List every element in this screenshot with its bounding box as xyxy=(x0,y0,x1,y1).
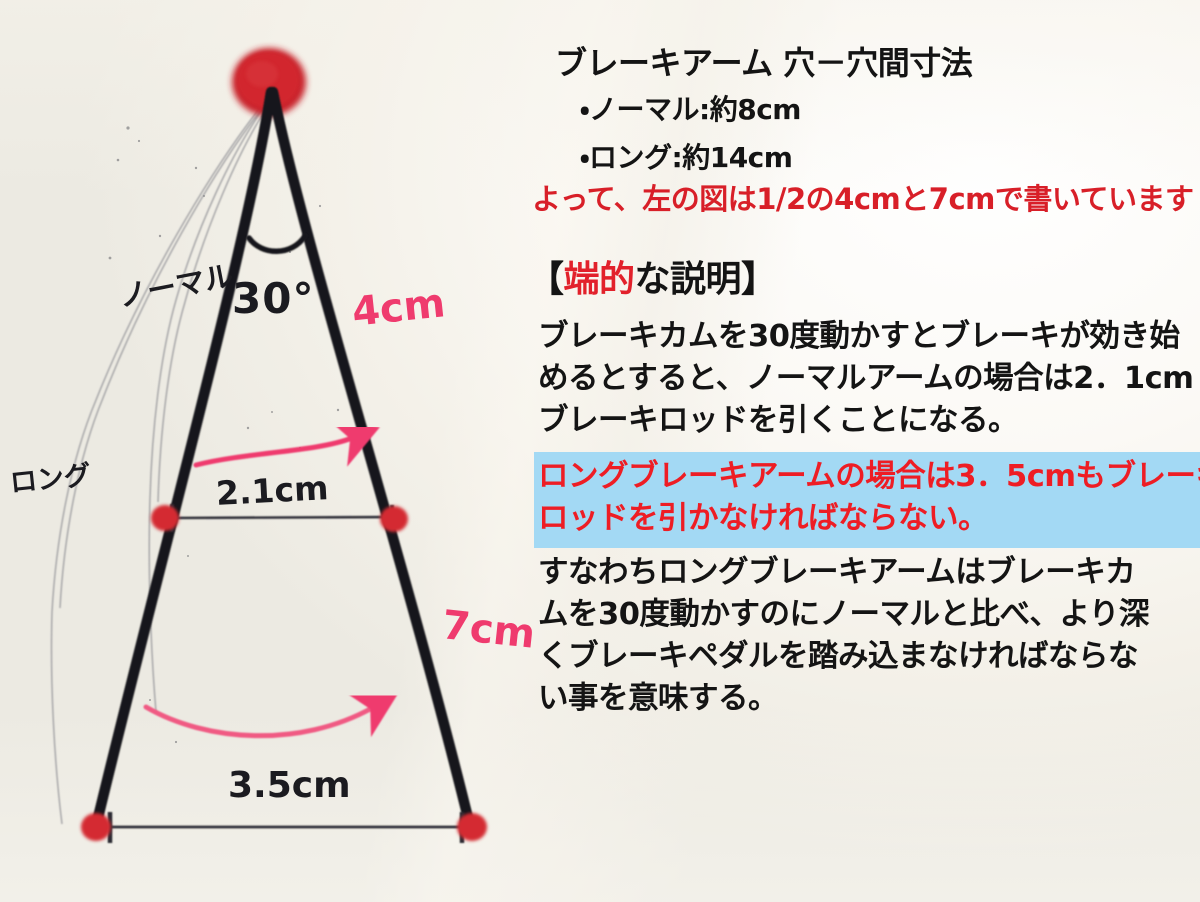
paragraph-normal-arm: ブレーキカムを30度動かすとブレーキが効き始 めるとすると、ノーマルアームの場合… xyxy=(538,316,1200,442)
paragraph-line: ブレーキロッドを引くことになる。 xyxy=(538,400,1200,442)
heading-close-bracket: 】 xyxy=(741,259,777,300)
paragraph-line: ムを30度動かすのにノーマルと比べ、より深 xyxy=(538,594,1200,636)
angle-arc-icon xyxy=(249,236,305,251)
section-heading: 【端的な説明】 xyxy=(528,250,777,302)
label-angle-30: 30° xyxy=(232,278,314,320)
lower-travel-arrow-icon xyxy=(146,707,372,736)
explanation-pane: ブレーキアーム 穴－穴間寸法 ・ノーマル:約8cm ・ロング:約14cm よって… xyxy=(520,0,1200,902)
label-long-arm: ロング xyxy=(9,462,92,497)
left-arm xyxy=(96,92,271,826)
paragraph-line: い事を意味する。 xyxy=(538,678,1200,720)
label-upper-chord-2-1cm: 2.1cm xyxy=(215,471,329,510)
paragraph-line: めるとすると、ノーマルアームの場合は2．1cm xyxy=(538,358,1200,400)
page-root: ノーマル ロング 30° 4cm 7cm 2.1cm 3.5cm ブレーキアーム… xyxy=(0,0,1200,902)
label-upper-length-4cm: 4cm xyxy=(350,283,447,333)
highlight-line: ロッドを引かなければならない。 xyxy=(534,498,1200,540)
lower-chord-line xyxy=(108,812,464,843)
spec-bullet-normal: ・ノーマル:約8cm xyxy=(580,88,801,128)
paragraph-conclusion: すなわちロングブレーキアームはブレーキカ ムを30度動かすのにノーマルと比べ、よ… xyxy=(538,552,1200,720)
highlighted-callout: ロングブレーキアームの場合は3．5cmもブレーキ ロッドを引かなければならない。 xyxy=(534,452,1200,548)
paragraph-line: すなわちロングブレーキアームはブレーキカ xyxy=(538,552,1200,594)
highlight-line: ロングブレーキアームの場合は3．5cmもブレーキ xyxy=(534,456,1200,498)
paragraph-line: くブレーキペダルを踏み込まなければならな xyxy=(538,636,1200,678)
upper-travel-arrow-icon xyxy=(196,438,352,465)
right-arm xyxy=(273,92,470,826)
paragraph-line: ブレーキカムを30度動かすとブレーキが効き始 xyxy=(538,316,1200,358)
scale-note: よって、左の図は1/2の4cmと7cmで書いています xyxy=(532,176,1193,218)
hand-drawn-diagram: ノーマル ロング 30° 4cm 7cm 2.1cm 3.5cm xyxy=(0,0,530,902)
spec-bullet-long: ・ロング:約14cm xyxy=(580,136,792,176)
heading-black-part: な説明 xyxy=(635,259,742,300)
page-title: ブレーキアーム 穴－穴間寸法 xyxy=(555,38,972,84)
heading-open-bracket: 【 xyxy=(528,259,564,300)
heading-red-part: 端的 xyxy=(564,259,635,300)
label-lower-chord-3-5cm: 3.5cm xyxy=(228,768,351,804)
